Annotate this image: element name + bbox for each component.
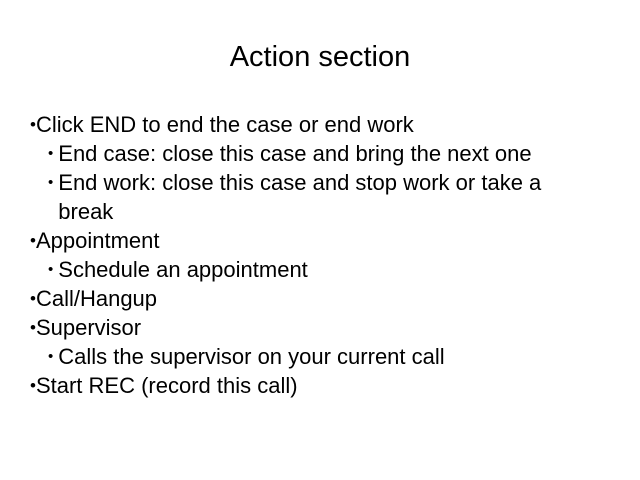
bullet-text: Appointment [36,228,160,253]
bullet-marker-icon: • [30,376,36,395]
bullet-text: End case: close this case and bring the … [58,139,531,168]
bullet-text: Schedule an appointment [58,255,308,284]
bullet-marker-icon: • [48,174,53,191]
bullet-item-level2: •Calls the supervisor on your current ca… [30,342,618,371]
bullet-marker-icon: • [48,145,53,162]
bullet-marker-icon: • [30,318,36,337]
bullet-marker-icon: • [30,289,36,308]
bullet-marker-icon: • [48,348,53,365]
bullet-text: Start REC (record this call) [36,373,298,398]
bullet-item-level1: •Appointment [30,226,618,255]
bullet-item-level2: •End case: close this case and bring the… [30,139,618,168]
bullet-item-level1: •Call/Hangup [30,284,618,313]
bullet-item-level2: •Schedule an appointment [30,255,618,284]
bullet-marker-icon: • [30,231,36,250]
bullet-marker-icon: • [48,261,53,278]
bullet-item-level2: •End work: close this case and stop work… [30,168,618,226]
bullet-text: Calls the supervisor on your current cal… [58,342,444,371]
presentation-slide: Action section •Click END to end the cas… [0,0,640,480]
bullet-item-level1: •Click END to end the case or end work [30,110,618,139]
bullet-text: Call/Hangup [36,286,157,311]
bullet-marker-icon: • [30,115,36,134]
bullet-text: Supervisor [36,315,141,340]
bullet-item-level1: •Supervisor [30,313,618,342]
bullet-text: End work: close this case and stop work … [58,168,598,226]
bullet-item-level1: •Start REC (record this call) [30,371,618,400]
slide-body-content: •Click END to end the case or end work •… [30,110,618,400]
bullet-text: Click END to end the case or end work [36,112,414,137]
page-title: Action section [0,39,640,75]
